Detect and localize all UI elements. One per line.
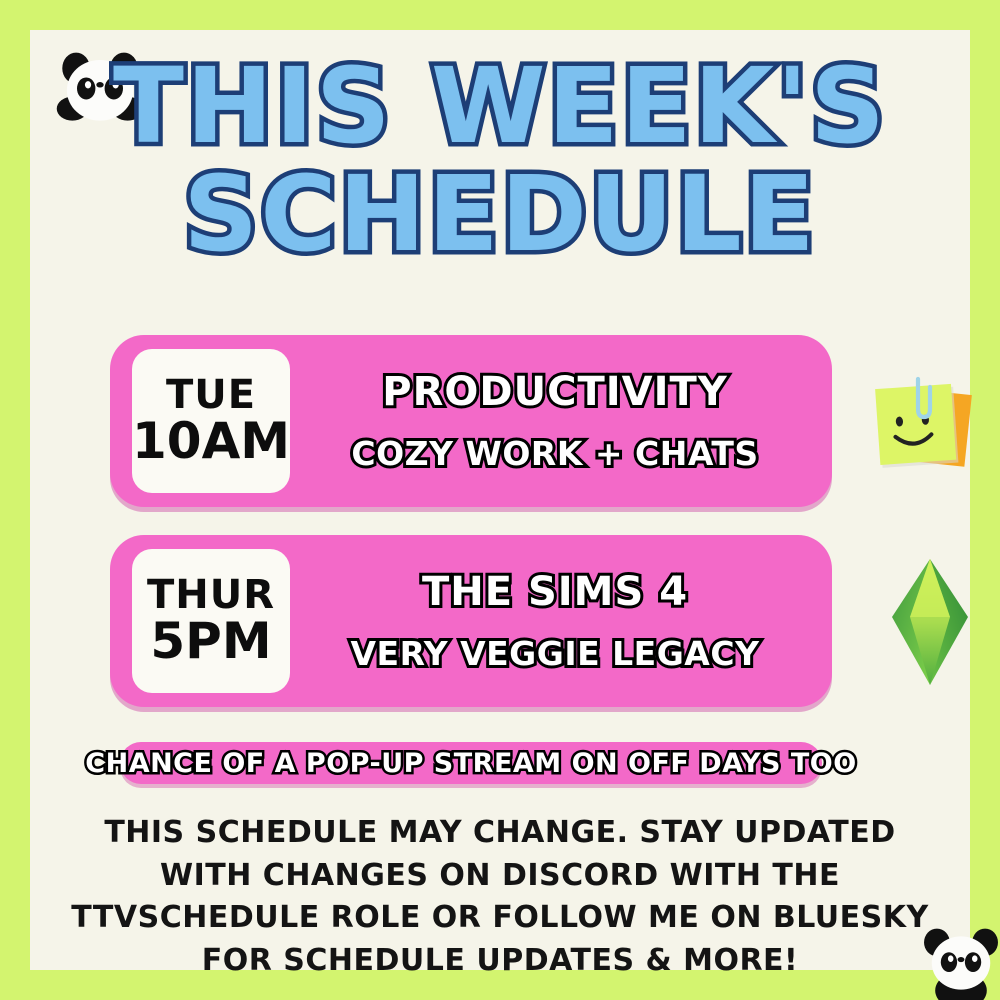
title-line-2: SCHEDULE <box>30 164 970 266</box>
title-line-1: THIS WEEK'S <box>30 56 970 158</box>
popup-stream-label: CHANCE OF A POP-UP STREAM ON OFF DAYS TO… <box>85 748 856 779</box>
time-label: 5PM <box>150 616 271 667</box>
day-time-box: TUE 10AM <box>132 349 290 493</box>
stream-subtitle: VERY VEGGIE LEGACY <box>294 636 816 672</box>
schedule-poster: THIS WEEK'S SCHEDULE TUE 10AM PRODUCTIVI… <box>0 0 1000 1000</box>
stream-subtitle: COZY WORK + CHATS <box>294 436 816 472</box>
poster-card: THIS WEEK'S SCHEDULE TUE 10AM PRODUCTIVI… <box>30 30 970 970</box>
disclaimer-text: THIS SCHEDULE MAY CHANGE. STAY UPDATED W… <box>70 812 930 982</box>
row-text-group: THE SIMS 4 VERY VEGGIE LEGACY <box>290 570 832 672</box>
plumbob-icon <box>880 555 980 690</box>
day-label: TUE <box>166 375 256 416</box>
page-title: THIS WEEK'S SCHEDULE <box>30 56 970 266</box>
schedule-row[interactable]: THUR 5PM THE SIMS 4 VERY VEGGIE LEGACY <box>110 535 832 707</box>
sticky-note-icon <box>870 375 980 480</box>
stream-title: THE SIMS 4 <box>294 570 816 614</box>
day-label: THUR <box>147 575 275 616</box>
row-text-group: PRODUCTIVITY COZY WORK + CHATS <box>290 370 832 472</box>
popup-stream-pill: CHANCE OF A POP-UP STREAM ON OFF DAYS TO… <box>120 742 822 784</box>
time-label: 10AM <box>132 416 290 467</box>
day-time-box: THUR 5PM <box>132 549 290 693</box>
stream-title: PRODUCTIVITY <box>294 370 816 414</box>
schedule-row[interactable]: TUE 10AM PRODUCTIVITY COZY WORK + CHATS <box>110 335 832 507</box>
panda-icon <box>918 920 1000 1000</box>
